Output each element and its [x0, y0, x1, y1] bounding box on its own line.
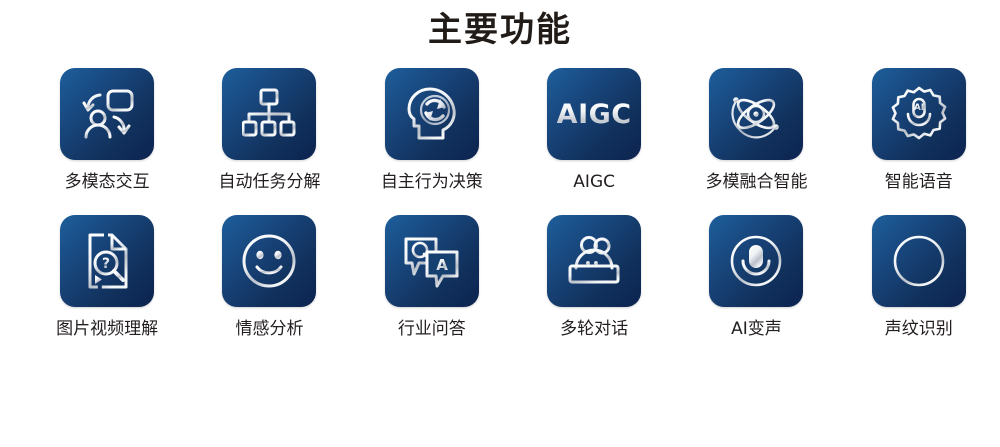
feature-tile[interactable]	[222, 215, 316, 307]
feature-item-voiceprint-recognition[interactable]: 声纹识别	[838, 215, 1000, 339]
feature-tile[interactable]: A	[385, 215, 479, 307]
features-row: ? 图片视频理解 情感分析	[0, 215, 1000, 339]
feature-tile[interactable]	[547, 215, 641, 307]
aigc-text-icon: AIGC	[557, 99, 632, 130]
feature-label: 行业问答	[398, 319, 466, 339]
feature-tile[interactable]	[872, 215, 966, 307]
feature-item-aigc[interactable]: AIGC AIGC	[513, 68, 675, 192]
gear-ai-text: AI	[914, 103, 924, 113]
feature-tile[interactable]	[709, 68, 803, 160]
feature-label: 自动任务分解	[218, 172, 320, 192]
feature-item-ai-voice-change[interactable]: AI变声	[675, 215, 837, 339]
question-mark-glyph: ?	[102, 256, 110, 272]
feature-label: AIGC	[573, 172, 615, 192]
feature-item-multimodal-fusion[interactable]: 多模融合智能	[675, 68, 837, 192]
feature-label: 声纹识别	[885, 319, 953, 339]
feature-item-image-video-understanding[interactable]: ? 图片视频理解	[26, 215, 188, 339]
feature-tile[interactable]	[709, 215, 803, 307]
feature-tile[interactable]	[222, 68, 316, 160]
feature-label: 多模态交互	[65, 172, 150, 192]
feature-tile[interactable]	[385, 68, 479, 160]
feature-label: 多轮对话	[560, 319, 628, 339]
feature-tile[interactable]: AIGC	[547, 68, 641, 160]
feature-tile[interactable]: ?	[60, 215, 154, 307]
multimodal-interaction-icon	[78, 87, 136, 141]
feature-item-multimodal-interaction[interactable]: 多模态交互	[26, 68, 188, 192]
feature-tile[interactable]	[60, 68, 154, 160]
people-desk-icon	[565, 236, 623, 286]
answer-letter-glyph: A	[436, 256, 448, 274]
waveform-circle-icon	[891, 233, 947, 289]
feature-label: 多模融合智能	[705, 172, 807, 192]
task-decomposition-icon	[242, 88, 296, 140]
feature-item-sentiment-analysis[interactable]: 情感分析	[188, 215, 350, 339]
smiley-face-icon	[241, 233, 297, 289]
feature-item-multi-turn-dialogue[interactable]: 多轮对话	[513, 215, 675, 339]
feature-tile[interactable]: AI	[872, 68, 966, 160]
feature-item-autonomous-decision[interactable]: 自主行为决策	[351, 68, 513, 192]
feature-label: AI变声	[731, 319, 782, 339]
feature-label: 自主行为决策	[381, 172, 483, 192]
page-title: 主要功能	[0, 0, 1000, 52]
feature-item-task-decomposition[interactable]: 自动任务分解	[188, 68, 350, 192]
feature-label: 智能语音	[885, 172, 953, 192]
feature-item-industry-qa[interactable]: A 行业问答	[351, 215, 513, 339]
atom-orbit-icon	[727, 86, 785, 142]
feature-label: 图片视频理解	[56, 319, 158, 339]
gear-microphone-icon: AI	[891, 86, 947, 142]
document-magnifier-icon: ?	[82, 232, 132, 290]
features-grid: 多模态交互 自动任务分解	[0, 68, 1000, 339]
head-cycle-icon	[405, 86, 459, 142]
qa-bubbles-icon: A	[403, 234, 461, 288]
feature-item-smart-voice[interactable]: AI 智能语音	[838, 68, 1000, 192]
feature-label: 情感分析	[235, 319, 303, 339]
microphone-circle-icon	[728, 233, 784, 289]
features-row: 多模态交互 自动任务分解	[0, 68, 1000, 192]
